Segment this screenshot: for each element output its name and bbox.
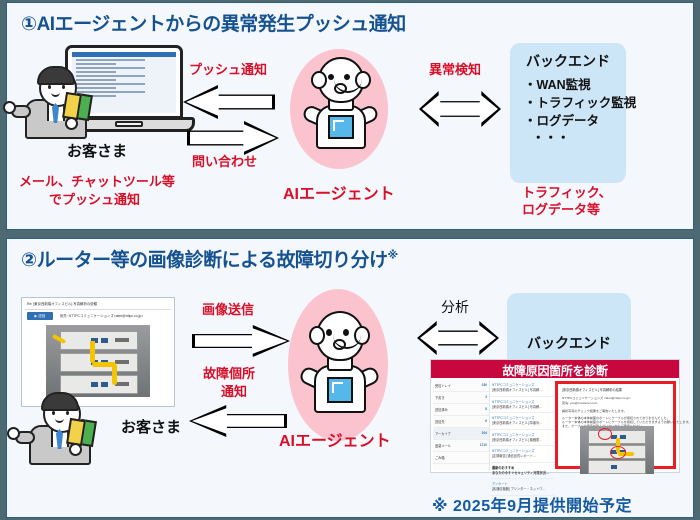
diagnosis-router-photo (580, 426, 654, 474)
person-hand-left (7, 427, 20, 440)
section-2-title: ②ルーター等の画像診断による故障切り分け※ (21, 245, 398, 272)
section-1-inquiry-arrow-label: 問い合わせ (192, 155, 257, 170)
mail-divider (25, 309, 171, 310)
section-1-backend-note-line1: トラフィック、 (522, 186, 612, 201)
person-eye-right (62, 85, 65, 89)
robot-chest-badge (327, 377, 353, 403)
mail-message-list: NTTPCコミュニケーションズ [東京西新橋オフィスビル] 写真解... NTT… (490, 380, 554, 470)
screen-line (76, 79, 116, 81)
folder-row[interactable]: 迷惑メール 1710 (433, 440, 489, 452)
router-port (101, 338, 108, 343)
message-subject: [定期報告] 通信品質レポート... (492, 453, 552, 458)
section-1-panel: ①AIエージェントからの異常発生プッシュ通知 (6, 2, 694, 230)
person-eye-left (48, 85, 51, 89)
fault-location-highlight (598, 428, 612, 440)
router-vent (115, 382, 129, 386)
section-2-title-text: ②ルーター等の画像診断による故障切り分け (21, 250, 388, 271)
diagnosis-banner: 故障原因箇所を診断 (431, 360, 679, 378)
section-1-customer-label: お客さま (67, 143, 127, 160)
router-unit (588, 460, 646, 474)
badge-mark (333, 120, 344, 131)
person-hand-right (69, 443, 82, 456)
screen-line (76, 83, 145, 85)
diagnosis-result-panel: 故障原因箇所を診断 受信トレイ 150 下書き 3 送信済み 8 送信先 6 ア… (430, 359, 680, 473)
person-hand-right (65, 117, 78, 130)
folder-name: 送信先 (435, 419, 445, 424)
arrow-fill (192, 408, 284, 434)
arrow-fill (195, 328, 287, 354)
robot-eye-left (326, 329, 332, 336)
folder-count: 8 (485, 407, 487, 411)
section-1-detect-arrow-label: 異常検知 (429, 63, 481, 78)
folder-row[interactable]: アーカイブ 204 (433, 428, 489, 440)
message-subject: あなたの今すぐセキュリティ対策状況... (492, 470, 552, 475)
section-1-backend-title: バックエンド (510, 51, 626, 71)
folder-row[interactable]: 受信トレイ 150 (433, 380, 489, 392)
folder-count: 6 (485, 419, 487, 423)
backend-item: ・ログデータ (524, 113, 626, 131)
section-1-title: ①AIエージェントからの異常発生プッシュ通知 (21, 9, 406, 36)
screen-titlebar (72, 52, 176, 57)
folder-count: 1710 (480, 443, 487, 447)
folder-name: 下書き (435, 395, 445, 400)
message-row[interactable]: NTTPCコミュニケーションズ [東京西新橋オフィスビル] 写真解... (490, 397, 554, 414)
screen-line (76, 71, 116, 73)
router-port (620, 435, 626, 439)
section-2-title-asterisk: ※ (388, 250, 398, 262)
fault-location-highlight (610, 446, 626, 459)
router-unit (60, 331, 138, 350)
laptop-trackpad (115, 121, 143, 127)
push-notification-arrow-left (183, 85, 275, 119)
section-1-customer-note-line1: メール、チャットツール等 (19, 175, 175, 190)
body-subject: [東京西新橋オフィスビル] 写真解析の結果 (562, 387, 622, 392)
mail-send-button[interactable]: ▶ 送信 (27, 312, 53, 320)
customer-mail-screenshot: Re: [東京西新橋オフィスビル] 写真解析の依頼 ▶ 送信 宛先: NTTPC… (21, 297, 175, 407)
diagnosis-mail-body: [東京西新橋オフィスビル] 写真解析の結果 NTTPCコミュニケーションズ <a… (555, 381, 676, 469)
inquiry-arrow-right (187, 121, 279, 155)
message-row[interactable]: NTTPCコミュニケーションズ [東京西新橋オフィスビル] 機器更... (490, 430, 554, 447)
robot-chest-badge (328, 115, 354, 139)
folder-row[interactable]: 下書き 3 (433, 392, 489, 404)
message-row[interactable]: NTTPCコミュニケーションズ [東京西新橋オフィスビル] 障害対... (490, 413, 554, 430)
footnote-availability: ※ 2025年9月提供開始予定 (432, 492, 632, 516)
router-vent (115, 360, 129, 364)
badge-mark (332, 382, 343, 393)
analysis-arrow-bidirectional (417, 321, 499, 355)
folder-count: 3 (485, 395, 487, 399)
mail-subject: Re: [東京西新橋オフィスビル] 写真解析の依頼 (27, 301, 97, 306)
arrow-fill (190, 124, 276, 152)
section-1-agent-label: AIエージェント (283, 186, 395, 204)
screen-line (76, 75, 145, 77)
body-line: 宛先: you@customer.com (562, 400, 597, 405)
router-photo (46, 325, 150, 397)
message-row[interactable]: 最新のおすすめ あなたの今すぐセキュリティ対策状況... (490, 463, 554, 480)
body-line: 解析写真のチェック結果をご報告いたします。 (562, 408, 627, 413)
message-subject: [東京西新橋オフィスビル] 機器更... (492, 437, 552, 442)
person-eye-left (52, 411, 55, 415)
section-2-analyze-label: 分析 (441, 299, 469, 315)
robot-ear-left (309, 326, 325, 345)
folder-count: 204 (482, 431, 487, 435)
message-subject: [東京西新橋オフィスビル] 写真解... (492, 404, 552, 409)
anomaly-detection-arrow-bidirectional (419, 91, 501, 127)
screen-line (76, 91, 145, 93)
folder-row[interactable]: 送信先 6 (433, 416, 489, 428)
screen-line (76, 87, 116, 89)
person-eye-right (66, 411, 69, 415)
message-row[interactable]: NTTPCコミュニケーションズ [東京西新橋オフィスビル] 写真解... (490, 380, 554, 397)
mail-to-field: 宛先: NTTPCコミュニケーションズ<alert@nttpc.co.jp> (60, 313, 143, 318)
router-vent (115, 338, 129, 342)
mail-folder-sidebar: 受信トレイ 150 下書き 3 送信済み 8 送信先 6 アーカイブ 204 迷… (433, 380, 490, 470)
backend-item: ・トラフィック監視 (524, 95, 626, 113)
robot-ear-left (311, 71, 327, 89)
backend-item: ・・・ (524, 130, 626, 148)
folder-name: 送信済み (435, 407, 448, 412)
section-1-customer-note-line2: でプッシュ通知 (49, 193, 140, 208)
folder-count: 150 (482, 383, 487, 387)
section-1-backend-box: バックエンド ・WAN監視 ・トラフィック監視 ・ログデータ ・・・ (510, 43, 626, 183)
section-2-backend-title: バックエンド (507, 333, 631, 353)
section-2-notify-arrow-label-line1: 故障個所 (203, 367, 255, 382)
section-2-customer-label: お客さま (121, 419, 181, 436)
section-1-agent-robot (290, 49, 388, 169)
fault-notification-arrow-left (189, 405, 287, 437)
folder-name: アーカイブ (435, 431, 451, 436)
folder-row[interactable]: ごみ箱 (433, 452, 489, 464)
screen-line (76, 67, 145, 69)
section-1-push-arrow-label: プッシュ通知 (189, 63, 267, 78)
section-2-agent-label: AIエージェント (279, 433, 391, 451)
folder-row[interactable]: 送信済み 8 (433, 404, 489, 416)
screen-line (76, 59, 145, 61)
router-unit (60, 375, 138, 394)
diagnosis-banner-text: 故障原因箇所を診断 (431, 362, 679, 379)
image-upload-arrow-right (192, 325, 290, 357)
section-2-upload-arrow-label: 画像送信 (202, 303, 254, 318)
yellow-cable (90, 341, 95, 363)
message-subject: [東京西新橋オフィスビル] 写真解... (492, 387, 552, 392)
backend-item: ・WAN監視 (524, 77, 626, 95)
message-subject: [各通信機器] プリンター・ネットワ... (492, 486, 552, 491)
section-2-agent-robot (289, 301, 387, 431)
section-1-backend-note-line2: ログデータ等 (522, 203, 600, 218)
arrow-fill (186, 88, 272, 116)
folder-name: 迷惑メール (435, 443, 451, 448)
folder-name: ごみ箱 (435, 455, 445, 460)
router-port (91, 382, 98, 387)
section-2-panel: ②ルーター等の画像診断による故障切り分け※ Re: [東京西新橋オフィスビル] … (6, 238, 694, 518)
person-hand-left (3, 101, 16, 114)
router-port (611, 465, 617, 469)
message-row[interactable]: NTTPCコミュニケーションズ [定期報告] 通信品質レポート... (490, 446, 554, 463)
section-2-notify-arrow-label-line2: 通知 (221, 385, 247, 400)
yellow-cable (112, 365, 117, 385)
folder-name: 受信トレイ (435, 383, 451, 388)
router-port (101, 382, 108, 387)
screen-line (76, 63, 116, 65)
message-subject: [東京西新橋オフィスビル] 障害対... (492, 420, 552, 425)
